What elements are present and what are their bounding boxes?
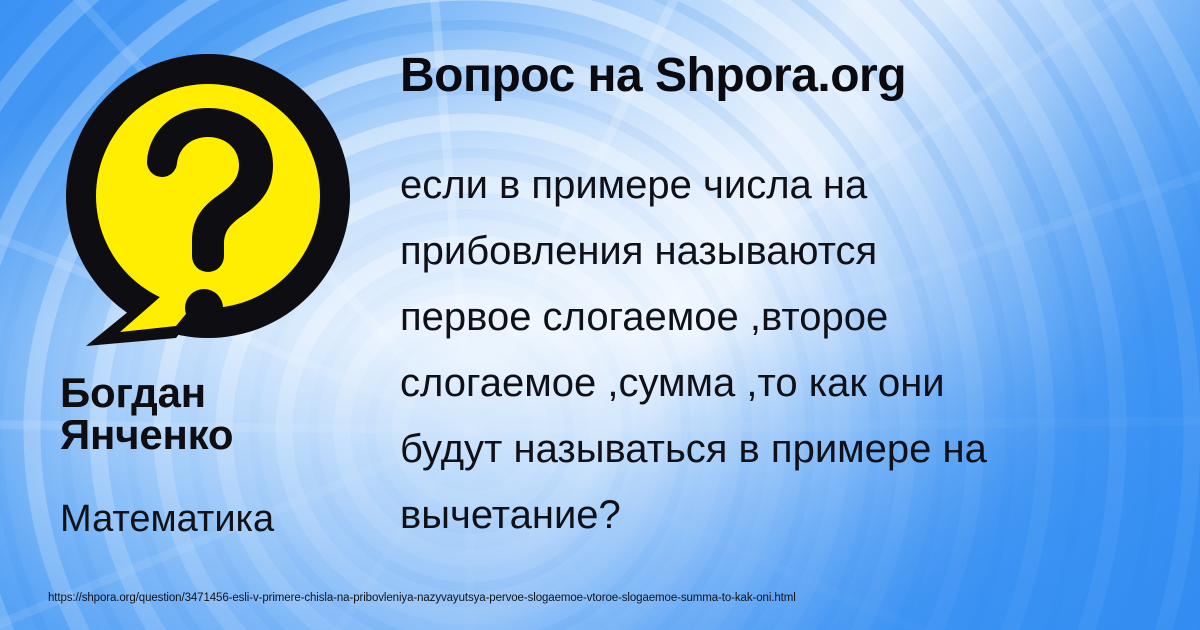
author-name-line-1: Богдан <box>60 372 390 414</box>
question-line: будут называться в примере на <box>400 416 1200 482</box>
author-name: Богдан Янченко <box>60 372 390 456</box>
question-line: первое слогаемое ,второе <box>400 284 1200 350</box>
question-speech-bubble-icon <box>58 46 358 351</box>
page-title: Вопрос на Shpora.org <box>400 48 906 103</box>
question-line: слогаемое ,сумма ,то как они <box>400 350 1200 416</box>
question-share-card: Богдан Янченко Математика Вопрос на Shpo… <box>0 0 1200 630</box>
question-text: если в примере числа на прибовления назы… <box>400 152 1200 548</box>
question-line: вычетание? <box>400 482 1200 548</box>
author-name-line-2: Янченко <box>60 414 390 456</box>
source-url[interactable]: https://shpora.org/question/3471456-esli… <box>48 592 796 604</box>
question-line: прибовления называются <box>400 218 1200 284</box>
question-line: если в примере числа на <box>400 152 1200 218</box>
subject-label: Математика <box>60 500 400 538</box>
